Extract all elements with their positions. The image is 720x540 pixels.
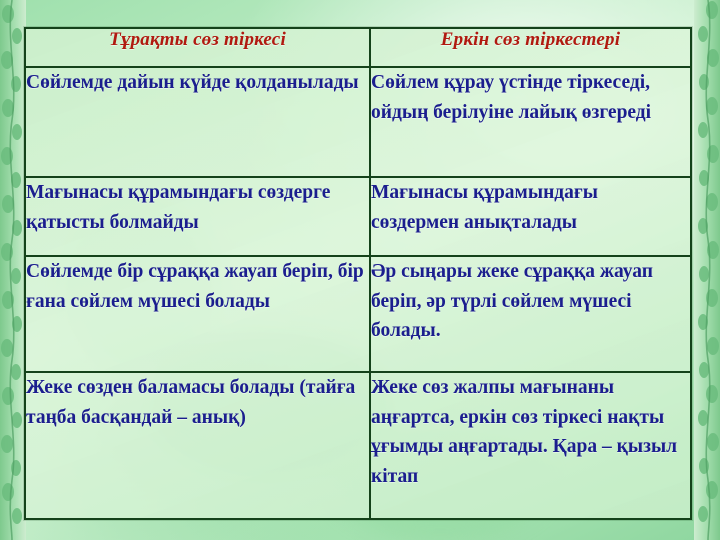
table-cell-left: Мағынасы құрамындағы сөздерге қатысты бо… xyxy=(25,177,370,256)
table-cell-left: Сөйлемде бір сұраққа жауап беріп, бір ға… xyxy=(25,256,370,372)
table-row: Жеке сөзден баламасы болады (тайға таңба… xyxy=(25,372,691,519)
table-cell-right: Әр сыңары жеке сұраққа жауап беріп, әр т… xyxy=(370,256,691,372)
table-cell-right: Сөйлем құрау үстінде тіркеседі, ойдың бе… xyxy=(370,67,691,177)
table-cell-right: Жеке сөз жалпы мағынаны аңғартса, еркін … xyxy=(370,372,691,519)
vine-border-left-icon xyxy=(0,0,26,540)
cell-text: Әр сыңары жеке сұраққа жауап беріп, әр т… xyxy=(371,257,690,346)
cell-text: Сөйлемде бір сұраққа жауап беріп, бір ға… xyxy=(26,257,369,316)
column-header-fixed-phrase: Тұрақты сөз тіркесі xyxy=(25,28,370,67)
table-cell-right: Мағынасы құрамындағы сөздермен анықталад… xyxy=(370,177,691,256)
table-header-row: Тұрақты сөз тіркесі Еркін сөз тіркестері xyxy=(25,28,691,67)
table-row: Сөйлемде дайын күйде қолданылады Сөйлем … xyxy=(25,67,691,177)
slide-canvas: Тұрақты сөз тіркесі Еркін сөз тіркестері… xyxy=(0,0,720,540)
comparison-table: Тұрақты сөз тіркесі Еркін сөз тіркестері… xyxy=(24,27,692,520)
cell-text: Сөйлем құрау үстінде тіркеседі, ойдың бе… xyxy=(371,68,690,127)
column-header-label: Тұрақты сөз тіркесі xyxy=(26,29,369,51)
cell-text: Жеке сөзден баламасы болады (тайға таңба… xyxy=(26,373,369,432)
cell-text: Мағынасы құрамындағы сөздермен анықталад… xyxy=(371,178,690,237)
cell-text: Мағынасы құрамындағы сөздерге қатысты бо… xyxy=(26,178,369,237)
cell-text: Жеке сөз жалпы мағынаны аңғартса, еркін … xyxy=(371,373,690,492)
column-header-free-phrase: Еркін сөз тіркестері xyxy=(370,28,691,67)
table-cell-left: Жеке сөзден баламасы болады (тайға таңба… xyxy=(25,372,370,519)
table-row: Сөйлемде бір сұраққа жауап беріп, бір ға… xyxy=(25,256,691,372)
cell-text: Сөйлемде дайын күйде қолданылады xyxy=(26,68,369,98)
column-header-label: Еркін сөз тіркестері xyxy=(371,29,690,51)
vine-border-right-icon xyxy=(694,0,720,540)
table-row: Мағынасы құрамындағы сөздерге қатысты бо… xyxy=(25,177,691,256)
table-cell-left: Сөйлемде дайын күйде қолданылады xyxy=(25,67,370,177)
